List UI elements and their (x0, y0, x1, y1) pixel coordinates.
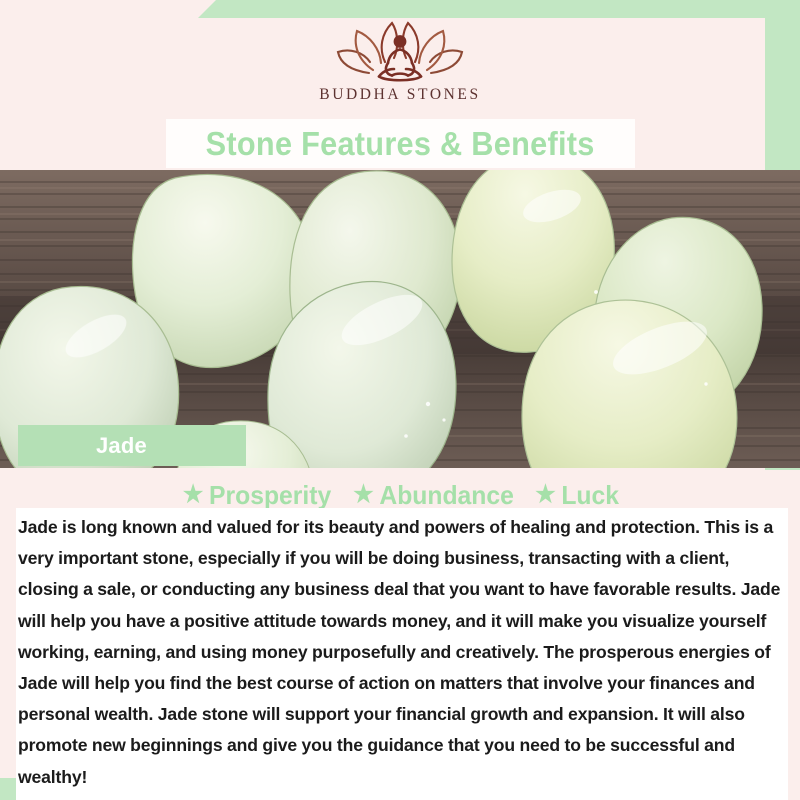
benefit-label: Abundance (380, 480, 514, 511)
lotus-meditation-icon (336, 18, 464, 84)
description-block: Jade is long known and valued for its be… (16, 508, 788, 800)
benefit-item-abundance: ★ Abundance (354, 480, 515, 511)
benefits-list: ★ Prosperity ★ Abundance ★ Luck (0, 478, 800, 512)
title-banner: Stone Features & Benefits (166, 119, 635, 168)
description-text: Jade is long known and valued for its be… (18, 512, 786, 793)
star-icon: ★ (354, 483, 374, 507)
benefit-label: Luck (561, 480, 619, 511)
brand-logo: BUDDHA STONES (0, 18, 800, 118)
stone-photo (0, 170, 800, 468)
stone-info-card: BUDDHA STONES Stone Features & Benefits (0, 0, 800, 800)
benefit-item-prosperity: ★ Prosperity (183, 480, 331, 511)
star-icon: ★ (535, 483, 555, 507)
star-icon: ★ (183, 483, 203, 507)
benefit-item-luck: ★ Luck (535, 480, 619, 511)
stone-name-label: Jade (18, 425, 246, 466)
brand-wordmark: BUDDHA STONES (319, 86, 480, 104)
stone-photo-image (0, 170, 800, 468)
stone-name-text: Jade (96, 433, 147, 459)
decorative-band-top (198, 0, 800, 18)
benefit-label: Prosperity (209, 480, 331, 511)
page-title: Stone Features & Benefits (206, 125, 595, 163)
